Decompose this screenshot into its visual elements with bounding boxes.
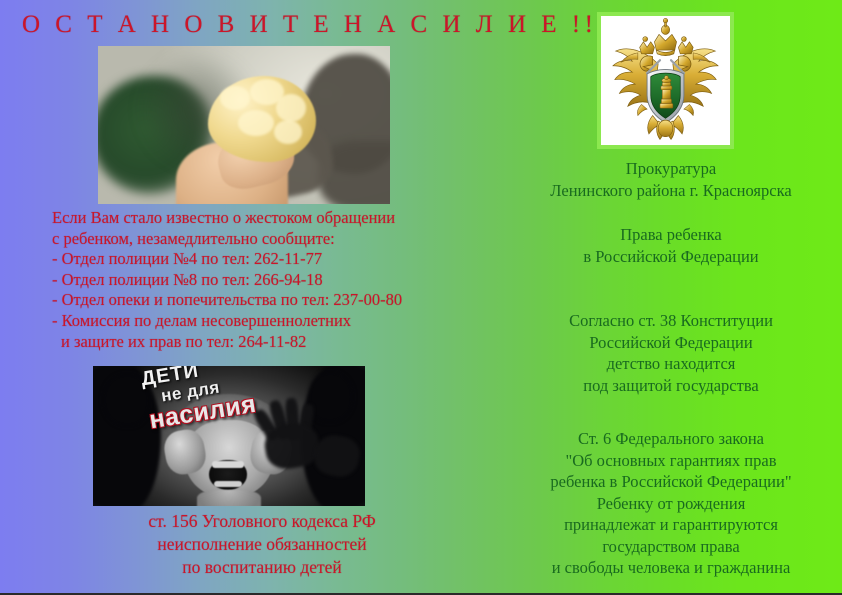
contact-line-police-8: - Отдел полиции №8 по тел: 266-94-18 xyxy=(52,270,402,291)
federal-law-line: принадлежат и гарантируются xyxy=(500,514,842,536)
hair-curl xyxy=(276,94,306,122)
constitution-line: Согласно ст. 38 Конституции xyxy=(500,310,842,332)
constitution-line: детство находится xyxy=(500,353,842,375)
federal-law-line: и свободы человека и гражданина xyxy=(500,557,842,579)
federal-law-line: ребенка в Российской Федерации" xyxy=(500,471,842,493)
federal-law-block: Ст. 6 Федерального закона "Об основных г… xyxy=(500,428,842,579)
double-headed-eagle-icon xyxy=(601,16,730,145)
article-line-156: ст. 156 Уголовного кодекса РФ xyxy=(62,510,462,533)
federal-law-line: Ст. 6 Федерального закона xyxy=(500,428,842,450)
contact-line-guardianship: - Отдел опеки и попечительства по тел: 2… xyxy=(52,290,402,311)
rights-title-block: Права ребенка в Российской Федерации xyxy=(500,224,842,267)
organization-block: Прокуратура Ленинского района г. Красноя… xyxy=(500,158,842,201)
violence-prevention-poster: О С Т А Н О В И Т Е Н А С И Л И Е !!! Ес… xyxy=(0,0,842,595)
photo-child-with-shadow-hand xyxy=(98,46,390,204)
constitution-block: Согласно ст. 38 Конституции Российской Ф… xyxy=(500,310,842,396)
contact-line-commission-phone: и защите их прав по тел: 264-11-82 xyxy=(52,332,402,353)
contact-information-block: Если Вам стало известно о жестоком обращ… xyxy=(52,208,402,352)
organization-line: Ленинского района г. Красноярска xyxy=(500,180,842,202)
article-line-upbringing: по воспитанию детей xyxy=(62,556,462,579)
federal-law-line: государством права xyxy=(500,536,842,558)
contact-line: с ребенком, незамедлительно сообщите: xyxy=(52,229,402,250)
federal-law-line: "Об основных гарантиях прав xyxy=(500,450,842,472)
prosecutor-office-emblem xyxy=(601,16,730,145)
hair-curl xyxy=(274,120,302,144)
photo-children-not-for-violence: ДЕТИ не для насилия xyxy=(93,366,365,506)
contact-line-police-4: - Отдел полиции №4 по тел: 262-11-77 xyxy=(52,249,402,270)
constitution-line: под защитой государства xyxy=(500,375,842,397)
contact-line: Если Вам стало известно о жестоком обращ… xyxy=(52,208,402,229)
right-silhouette-head xyxy=(309,372,353,422)
constitution-line: Российской Федерации xyxy=(500,332,842,354)
criminal-code-article-block: ст. 156 Уголовного кодекса РФ неисполнен… xyxy=(62,510,462,579)
rights-title-line: Права ребенка xyxy=(500,224,842,246)
page-title: О С Т А Н О В И Т Е Н А С И Л И Е !!! xyxy=(22,12,610,37)
crying-child-teeth-upper xyxy=(212,461,244,468)
rights-title-line: в Российской Федерации xyxy=(500,246,842,268)
contact-line-commission: - Комиссия по делам несовершеннолетних xyxy=(52,311,402,332)
article-line-duties: неисполнение обязанностей xyxy=(62,533,462,556)
crying-child-teeth-lower xyxy=(214,481,242,487)
prosecutor-emblem-frame xyxy=(597,12,734,149)
hair-curl xyxy=(238,110,274,136)
hair-curl xyxy=(220,86,250,110)
federal-law-line: Ребенку от рождения xyxy=(500,493,842,515)
organization-line: Прокуратура xyxy=(500,158,842,180)
crying-child-neck xyxy=(197,490,261,506)
